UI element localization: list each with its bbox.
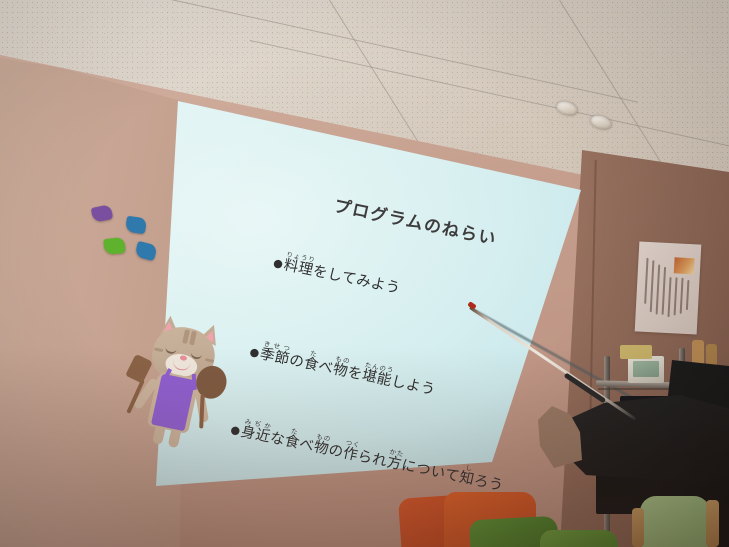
ruby-group: 堪能たんのう: [361, 368, 394, 390]
cat-leg-right: [168, 429, 182, 449]
ruby-text: かた: [388, 448, 404, 459]
chair-wood-arm: [632, 508, 644, 547]
ruby-text: もの: [315, 432, 331, 443]
slide-title: プログラムのねらい: [332, 191, 500, 249]
decor-green: [103, 237, 126, 255]
chair-wood-arm: [706, 500, 719, 547]
ruby-text: た: [305, 349, 321, 360]
poster-image: [674, 257, 695, 274]
poster-text-line: [674, 277, 677, 315]
poster-text-line: [644, 258, 648, 304]
bottle: [706, 344, 717, 366]
slide-bullet-2: ●季節きせつの食たべ物ものを堪能たんのうしよう: [248, 337, 439, 399]
ruby-group: 身近みぢか: [239, 424, 272, 446]
yellow-box: [620, 345, 652, 359]
ruby-group: 季節きせつ: [258, 346, 291, 368]
poster-text-line: [680, 278, 683, 314]
photo-scene: プログラムのねらい ●料理りょうりをしてみよう ●季節きせつの食たべ物ものを堪能…: [0, 0, 729, 547]
ruby-group: 料理りょうり: [282, 257, 315, 279]
ruby-text: し: [461, 463, 477, 474]
poster-text-line: [656, 264, 660, 314]
poster-text-line: [662, 267, 666, 315]
ruby-text: もの: [335, 355, 351, 366]
ruby-group: 方かた: [385, 455, 403, 474]
poster-text-line: [667, 277, 671, 317]
poster-text-line: [650, 260, 654, 312]
ruby-group: 知し: [458, 470, 476, 489]
ruby-group: 食た: [283, 433, 301, 452]
chair-green-back-2: [540, 530, 618, 547]
ruby-group: 物もの: [331, 362, 349, 381]
ruby-group: 物もの: [312, 439, 330, 458]
ruby-text: りょうり: [285, 250, 316, 264]
bottle: [692, 340, 704, 366]
appliance-display: [633, 361, 659, 377]
ruby-group: 食た: [302, 355, 320, 374]
poster-text-line: [686, 280, 689, 310]
frying-pan-handle: [199, 394, 204, 428]
slide-bullet-3: ●身近みぢかな食たべ物ものの作つくられ方かたについて知しろう: [229, 415, 507, 495]
cooking-cat-illustration: [107, 303, 247, 472]
slide-bullet-1: ●料理りょうりをしてみよう: [272, 248, 404, 298]
wall-poster: [635, 241, 702, 334]
cat-leg-left: [152, 425, 166, 445]
ruby-group: 作つく: [341, 445, 359, 464]
ruby-text: たんのう: [364, 361, 395, 375]
chair-light-green: [640, 496, 710, 547]
ruby-text: た: [286, 426, 302, 437]
ruby-text: きせつ: [262, 339, 293, 353]
ruby-text: つく: [345, 439, 361, 450]
ruby-text: みぢか: [243, 417, 274, 431]
